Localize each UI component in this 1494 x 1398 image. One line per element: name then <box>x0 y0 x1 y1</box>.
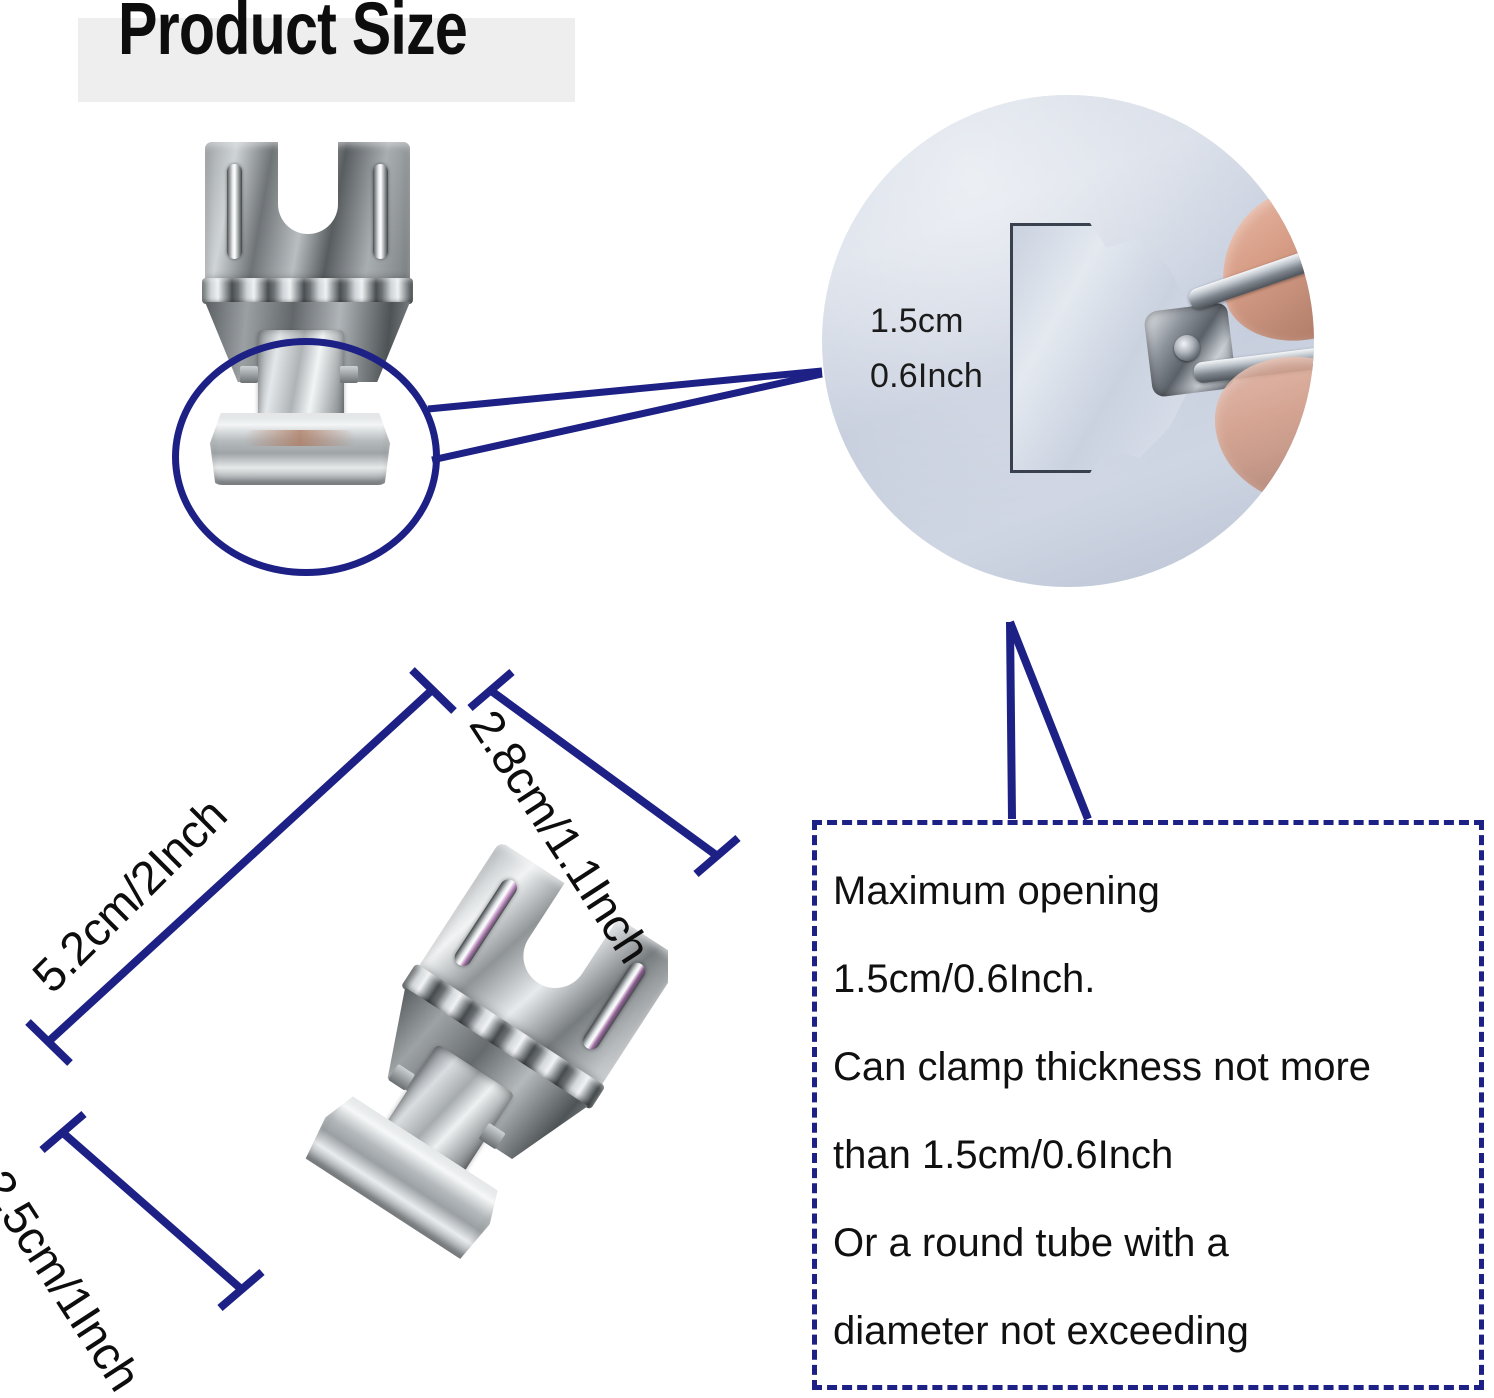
clip-rivet <box>1174 335 1200 361</box>
bracket-plate <box>205 142 410 282</box>
magnified-clamp-photo: 1.5cm 0.6Inch <box>822 95 1314 587</box>
bracket-slot-right-angled <box>580 959 649 1052</box>
bracket-slot-left-angled <box>451 876 520 969</box>
page-title: Product Size <box>118 0 467 66</box>
hinge-barrel <box>202 278 413 304</box>
spec-line: Can clamp thickness not more <box>833 1023 1479 1111</box>
ellipse-highlight-icon <box>172 338 440 576</box>
spec-line: than 1.5cm/0.6Inch <box>833 1111 1479 1199</box>
callout-measure-inch: 0.6Inch <box>870 357 983 396</box>
spec-line: Or a round tube with a <box>833 1199 1479 1287</box>
spec-callout-box: Maximum opening 1.5cm/0.6Inch. Can clamp… <box>812 820 1484 1390</box>
bracket-slot-left <box>227 164 242 259</box>
bracket-notch <box>278 139 338 234</box>
spec-line: 1.5cm/0.6Inch. <box>833 1375 1479 1398</box>
bracket-slot-right <box>373 164 388 259</box>
callout-measure-cm: 1.5cm <box>870 302 964 341</box>
spec-line: diameter not exceeding <box>833 1287 1479 1375</box>
spec-line-list: Maximum opening 1.5cm/0.6Inch. Can clamp… <box>817 825 1479 1398</box>
spec-line: 1.5cm/0.6Inch. <box>833 935 1479 1023</box>
product-size-infographic: Product Size <box>0 0 1494 1398</box>
spec-line: Maximum opening <box>833 847 1479 935</box>
